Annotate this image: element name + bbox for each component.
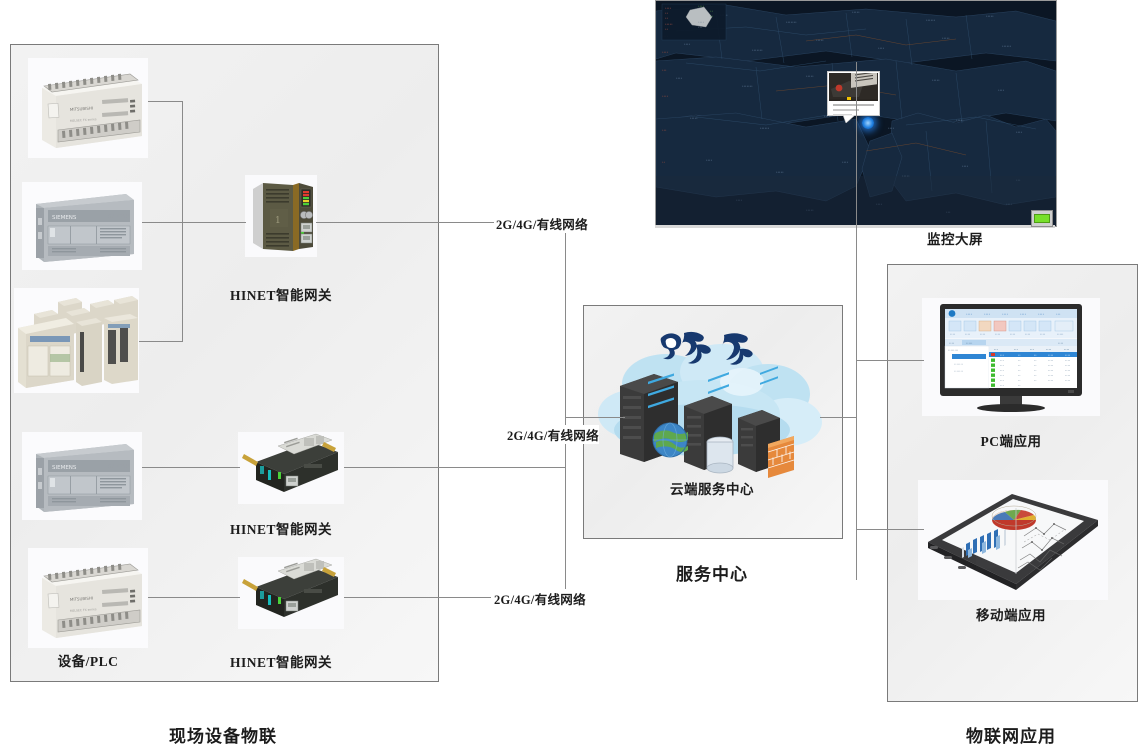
- globe-icon: [653, 423, 688, 457]
- svg-text:••••: ••••: [1048, 370, 1053, 373]
- svg-text:••: ••: [665, 17, 669, 20]
- svg-text:•••••••: •••••••: [954, 363, 963, 366]
- svg-text:••••: ••••: [662, 95, 669, 98]
- svg-text:••••: ••••: [1025, 333, 1030, 336]
- svg-text:•••••: •••••: [986, 15, 994, 18]
- svg-text:••••: ••••: [1040, 333, 1045, 336]
- vertical-bus-upper: [182, 101, 183, 341]
- mobile-tablet: [918, 480, 1108, 600]
- controller-rack: [14, 288, 139, 393]
- svg-text:••: ••: [665, 28, 669, 31]
- database-icon: [707, 437, 733, 473]
- svg-text:SIEMENS: SIEMENS: [52, 465, 77, 471]
- svg-text:••••: ••••: [1065, 370, 1070, 373]
- svg-text:•••••••: •••••••: [752, 49, 763, 52]
- svg-text:••••: ••••: [1048, 365, 1053, 368]
- svg-text:••: ••: [1034, 365, 1037, 368]
- popup-text-line-1: [833, 104, 874, 106]
- screen-power-icon[interactable]: [1031, 210, 1053, 227]
- svg-text:••••: ••••: [1058, 342, 1063, 345]
- pc-monitor: •••••••••••• ••••••••••• •••••••••••• ••…: [922, 298, 1100, 416]
- svg-text:••••: ••••: [962, 165, 969, 168]
- svg-text:•••: •••: [1000, 360, 1004, 363]
- box-router-gateway-middle: [238, 432, 344, 504]
- svg-text:••••: ••••: [842, 161, 849, 164]
- svg-text:••: ••: [1034, 380, 1037, 383]
- svg-text:••••: ••••: [966, 313, 973, 316]
- link-bus-to-gateway1: [182, 222, 246, 223]
- device-plc-label: 设备/PLC: [18, 650, 158, 670]
- svg-text:•••••: •••••: [966, 342, 972, 345]
- svg-text:••••: ••••: [1038, 313, 1045, 316]
- link-trunk-to-cloud: [565, 417, 625, 418]
- link-plc4-to-gateway2: [142, 467, 240, 468]
- big-screen-label: 监控大屏: [855, 228, 1055, 248]
- svg-text:•••••••: •••••••: [742, 85, 753, 88]
- svg-text:••••: ••••: [1065, 354, 1070, 357]
- map-marker[interactable]: [862, 117, 874, 129]
- service-center-title: 服务中心: [632, 560, 792, 585]
- svg-text:•••: •••: [662, 129, 667, 132]
- app-panel-title: 物联网应用: [911, 722, 1111, 747]
- svg-text:•••: •••: [1014, 349, 1018, 352]
- svg-text:••: ••: [662, 161, 666, 164]
- link-gateway3-to-trunk: [344, 597, 491, 598]
- svg-text:•••: •••: [698, 26, 703, 29]
- svg-text:••••: ••••: [662, 51, 669, 54]
- svg-text:•••••: •••••: [852, 11, 860, 14]
- svg-text:••: ••: [710, 15, 714, 18]
- svg-text:•••: •••: [1000, 354, 1004, 357]
- svg-text:••: ••: [1018, 385, 1021, 388]
- svg-text:•••••••: •••••••: [786, 21, 797, 24]
- svg-text:••: ••: [1034, 360, 1037, 363]
- svg-text:••••: ••••: [1064, 349, 1069, 352]
- network-label-3: 2G/4G/有线网络: [494, 589, 586, 608]
- svg-text:••••: ••••: [1048, 375, 1053, 378]
- svg-text:•••: •••: [662, 69, 667, 72]
- link-plc5-to-gateway3: [148, 597, 240, 598]
- svg-text:•••••: •••••: [665, 23, 673, 26]
- svg-text:••••: ••••: [1048, 360, 1053, 363]
- popup-tail: [843, 115, 855, 123]
- svg-text:••••: ••••: [878, 47, 885, 50]
- svg-text:•••: •••: [1000, 370, 1004, 373]
- svg-text:••: ••: [1018, 365, 1021, 368]
- network-label-2: 2G/4G/有线网络: [507, 425, 599, 444]
- svg-text:•••••: •••••: [942, 37, 950, 40]
- svg-text:••: ••: [710, 10, 714, 13]
- link-gateway2-to-trunk: [344, 467, 565, 468]
- svg-text:••: ••: [1034, 375, 1037, 378]
- svg-text:••••: ••••: [1002, 313, 1009, 316]
- mitsubishi-plc-top: MITSUBISHI MELSEC FX series: [28, 58, 148, 158]
- svg-text:1: 1: [275, 216, 281, 226]
- svg-text:••••••••: ••••••••: [948, 349, 958, 352]
- link-bus-to-mobile: [856, 529, 924, 530]
- right-distribution-bus: [856, 62, 857, 580]
- svg-text:••••••: ••••••: [760, 127, 770, 130]
- link-gateway1-to-trunk: [316, 222, 494, 223]
- svg-text:•••••: •••••: [690, 117, 698, 120]
- svg-text:•••••: •••••: [806, 75, 814, 78]
- link-bus-to-bigscreen: [856, 62, 857, 63]
- svg-text:••: ••: [1018, 375, 1021, 378]
- svg-text:••: ••: [1018, 370, 1021, 373]
- svg-text:•••: •••: [1000, 365, 1004, 368]
- svg-text:••••: ••••: [949, 342, 954, 345]
- svg-text:•••••••: •••••••: [954, 370, 963, 373]
- svg-text:••••: ••••: [1016, 131, 1023, 134]
- svg-text:•••••: •••••: [956, 119, 964, 122]
- link-plc1-to-bus: [148, 101, 183, 102]
- field-panel-title: 现场设备物联: [123, 722, 323, 747]
- svg-text:••••: ••••: [995, 333, 1000, 336]
- svg-text:••••: ••••: [965, 333, 970, 336]
- svg-text:••••: ••••: [676, 77, 683, 80]
- siemens-plc-upper: SIEMENS S7-1200: [22, 182, 142, 270]
- svg-text:•••••: •••••: [816, 39, 824, 42]
- siemens-plc-lower: SIEMENS S7-1200: [22, 432, 142, 520]
- network-label-1: 2G/4G/有线网络: [496, 214, 588, 233]
- svg-text:••••: ••••: [1065, 375, 1070, 378]
- mobile-app-label: 移动端应用: [941, 604, 1081, 624]
- svg-text:••••: ••••: [1065, 365, 1070, 368]
- svg-text:••: ••: [1034, 354, 1037, 357]
- svg-text:•••: •••: [1000, 380, 1004, 383]
- svg-text:••••: ••••: [1048, 380, 1053, 383]
- svg-text:S7-1200: S7-1200: [108, 464, 129, 470]
- svg-text:••: ••: [1018, 360, 1021, 363]
- link-bus-to-pc: [856, 360, 924, 361]
- svg-text:••••••: ••••••: [1002, 45, 1012, 48]
- svg-text:••••: ••••: [950, 333, 955, 336]
- svg-text:••••: ••••: [698, 21, 705, 24]
- link-cloud-to-right-bus: [820, 417, 857, 418]
- svg-text:•••••: •••••: [776, 171, 784, 174]
- svg-text:••••: ••••: [998, 89, 1005, 92]
- svg-text:••: ••: [665, 12, 669, 15]
- link-plc2-to-bus: [142, 222, 183, 223]
- svg-text:•••: •••: [994, 349, 998, 352]
- gateway-label-1: HINET智能网关: [201, 284, 361, 304]
- mitsubishi-plc-bottom: MITSUBISHI MELSEC FX series: [28, 548, 148, 648]
- popup-device-photo: [829, 73, 878, 101]
- svg-text:••••: ••••: [1065, 360, 1070, 363]
- map-popup-card: [827, 71, 880, 116]
- svg-text:••••: ••••: [1010, 333, 1015, 336]
- central-network-trunk: [565, 222, 566, 598]
- svg-text:SIEMENS: SIEMENS: [52, 215, 77, 221]
- svg-text:••••: ••••: [980, 333, 985, 336]
- gateway-label-2: HINET智能网关: [201, 518, 361, 538]
- svg-text:••: ••: [1018, 380, 1021, 383]
- svg-text:••••: ••••: [1048, 354, 1053, 357]
- svg-text:••••: ••••: [1020, 313, 1027, 316]
- svg-text:•••••: •••••: [932, 79, 940, 82]
- svg-text:••: ••: [1034, 370, 1037, 373]
- svg-text:••••: ••••: [684, 43, 691, 46]
- cloud-logo: [654, 327, 774, 365]
- svg-text:•••••: •••••: [1057, 333, 1063, 336]
- din-rail-gateway: 1: [245, 175, 317, 257]
- svg-text:S7-1200: S7-1200: [108, 214, 129, 220]
- svg-text:••••: ••••: [1065, 380, 1070, 383]
- cloud-center-label: 云端服务中心: [632, 478, 792, 498]
- box-router-gateway-bottom: [238, 557, 344, 629]
- svg-text:•••: •••: [1000, 385, 1004, 388]
- svg-text:••••: ••••: [698, 5, 705, 8]
- svg-text:••••: ••••: [1046, 349, 1051, 352]
- svg-text:••••: ••••: [665, 7, 672, 10]
- pc-app-label: PC端应用: [941, 430, 1081, 450]
- link-plc3-to-bus: [139, 341, 183, 342]
- svg-text:•••: •••: [1030, 349, 1034, 352]
- svg-text:••••: ••••: [888, 127, 895, 130]
- gateway-label-3: HINET智能网关: [201, 651, 361, 671]
- svg-text:••••: ••••: [706, 159, 713, 162]
- svg-text:•••: •••: [1000, 375, 1004, 378]
- svg-text:•••: •••: [1056, 313, 1061, 316]
- svg-text:••••••: ••••••: [926, 19, 936, 22]
- svg-text:••••: ••••: [984, 313, 991, 316]
- svg-text:••: ••: [1018, 354, 1021, 357]
